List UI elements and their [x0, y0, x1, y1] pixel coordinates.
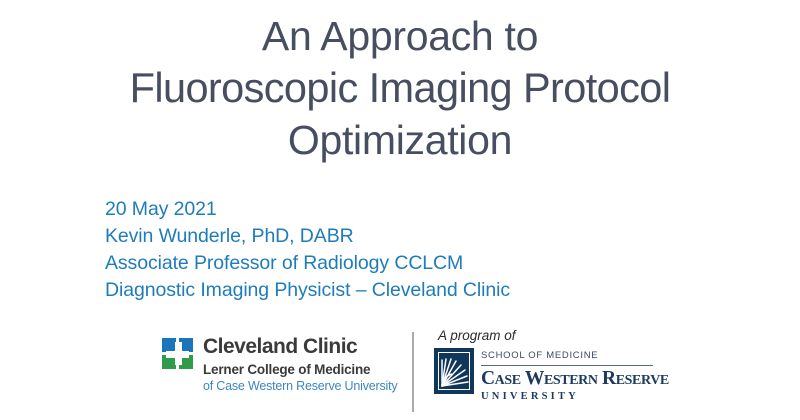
- page-title: An Approach to Fluoroscopic Imaging Prot…: [28, 10, 772, 166]
- case-western-university-label: UNIVERSITY: [481, 390, 674, 403]
- case-western-sunburst-icon: [434, 348, 474, 394]
- presenter-name: Kevin Wunderle, PhD, DABR: [105, 223, 510, 250]
- presenter-role: Diagnostic Imaging Physicist – Cleveland…: [105, 277, 510, 304]
- program-of-label: A program of: [438, 328, 674, 343]
- logo-divider: [412, 332, 414, 412]
- cleveland-clinic-subtitle-2: of Case Western Reserve University: [203, 379, 397, 394]
- title-line-1: An Approach to: [28, 10, 772, 62]
- presenter-title: Associate Professor of Radiology CCLCM: [105, 250, 510, 277]
- title-slide: An Approach to Fluoroscopic Imaging Prot…: [0, 0, 800, 420]
- presentation-date: 20 May 2021: [105, 196, 510, 223]
- cleveland-clinic-name: Cleveland Clinic: [203, 336, 397, 358]
- school-of-medicine-label: SCHOOL OF MEDICINE: [481, 350, 674, 362]
- cleveland-clinic-wordmark: Cleveland Clinic Lerner College of Medic…: [203, 336, 397, 394]
- case-western-name: Case Western Reserve: [481, 369, 674, 389]
- title-line-3: Optimization: [28, 114, 772, 166]
- cleveland-clinic-subtitle-1: Lerner College of Medicine: [203, 361, 397, 378]
- cleveland-clinic-mark-icon: [162, 338, 195, 371]
- cleveland-clinic-logo: Cleveland Clinic Lerner College of Medic…: [162, 336, 397, 394]
- case-western-rule: [481, 365, 653, 366]
- logo-strip: Cleveland Clinic Lerner College of Medic…: [0, 328, 800, 420]
- title-line-2: Fluoroscopic Imaging Protocol: [28, 62, 772, 114]
- presenter-details: 20 May 2021 Kevin Wunderle, PhD, DABR As…: [105, 196, 510, 304]
- case-western-logo: A program of: [434, 328, 674, 403]
